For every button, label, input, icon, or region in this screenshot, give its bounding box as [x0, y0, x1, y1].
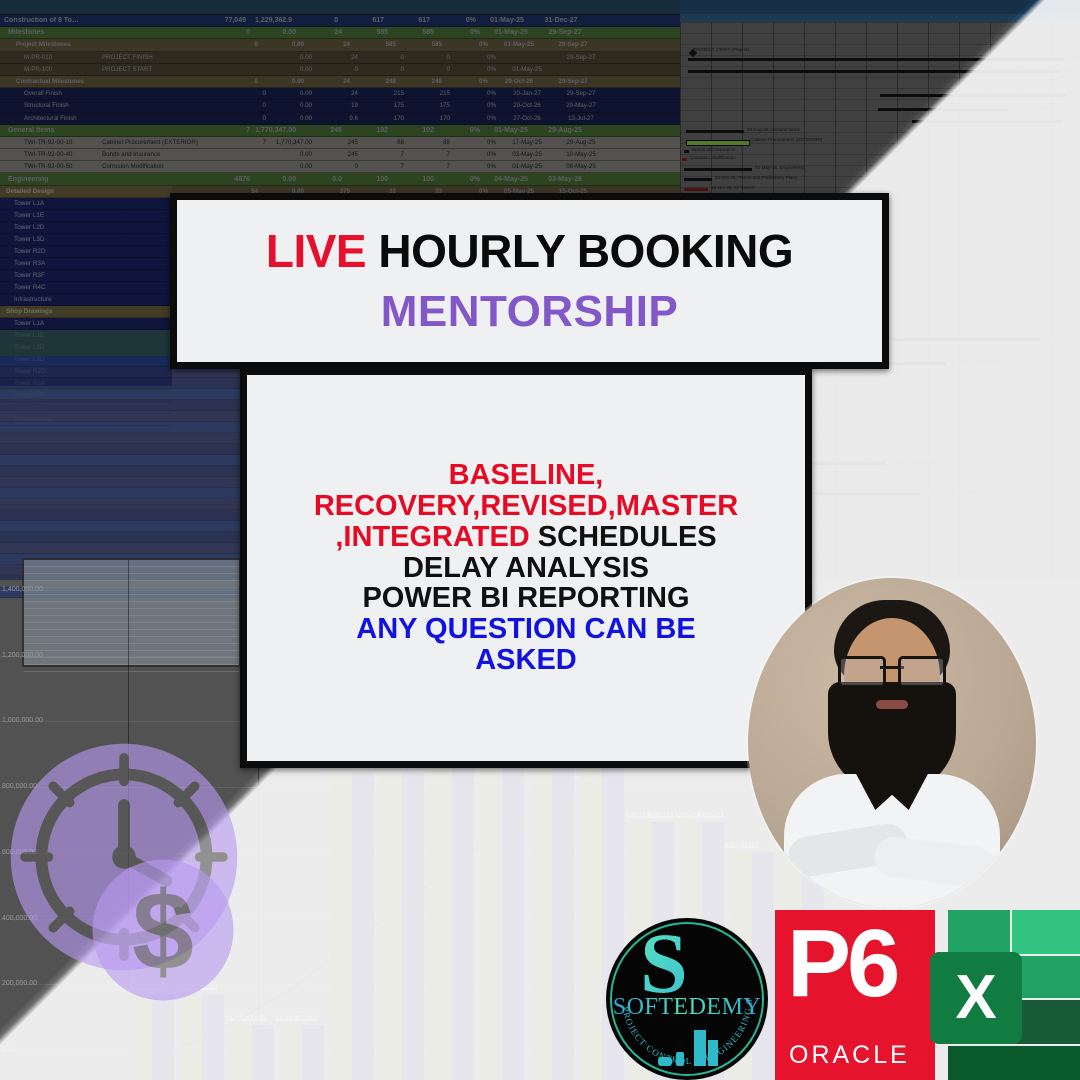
promo-graphic: Construction of 8 Towers77,0491,229,362.… — [0, 0, 1080, 1080]
subheadline: MENTORSHIP — [381, 290, 679, 334]
service-line: DELAY ANALYSIS — [314, 553, 738, 584]
glasses-icon — [838, 656, 946, 682]
oracle-wordmark: ORACLE — [789, 1041, 910, 1070]
dollar-coin-icon: $ — [88, 855, 238, 1005]
headline: LIVE HOURLY BOOKING — [266, 228, 793, 274]
service-line: ASKED — [314, 645, 738, 676]
svg-text:$: $ — [132, 869, 194, 993]
mentor-avatar — [748, 578, 1036, 908]
title-card: LIVE HOURLY BOOKING MENTORSHIP — [170, 193, 889, 369]
softedemy-logo: S SOFTEDEMY PROJECT CONTROL & ENGINEERIN… — [606, 918, 768, 1080]
excel-x-letter: X — [955, 967, 996, 1029]
headline-live-word: LIVE — [266, 225, 366, 277]
service-line: BASELINE, — [314, 460, 738, 491]
headline-rest: HOURLY BOOKING — [366, 225, 793, 277]
oracle-p6-logo: P6 ORACLE — [775, 910, 935, 1080]
excel-x-tile: X — [930, 952, 1022, 1044]
mouth — [876, 700, 908, 709]
service-line: ANY QUESTION CAN BE — [314, 614, 738, 645]
service-line: ,INTEGRATED SCHEDULES — [314, 522, 738, 553]
service-line: POWER BI REPORTING — [314, 583, 738, 614]
service-line: RECOVERY,REVISED,MASTER — [314, 491, 738, 522]
p6-wordmark: P6 — [787, 916, 896, 1012]
excel-logo: X — [930, 910, 1080, 1080]
building-icon — [654, 1026, 724, 1066]
services-card: BASELINE,RECOVERY,REVISED,MASTER,INTEGRA… — [240, 368, 812, 768]
services-list: BASELINE,RECOVERY,REVISED,MASTER,INTEGRA… — [314, 460, 738, 675]
